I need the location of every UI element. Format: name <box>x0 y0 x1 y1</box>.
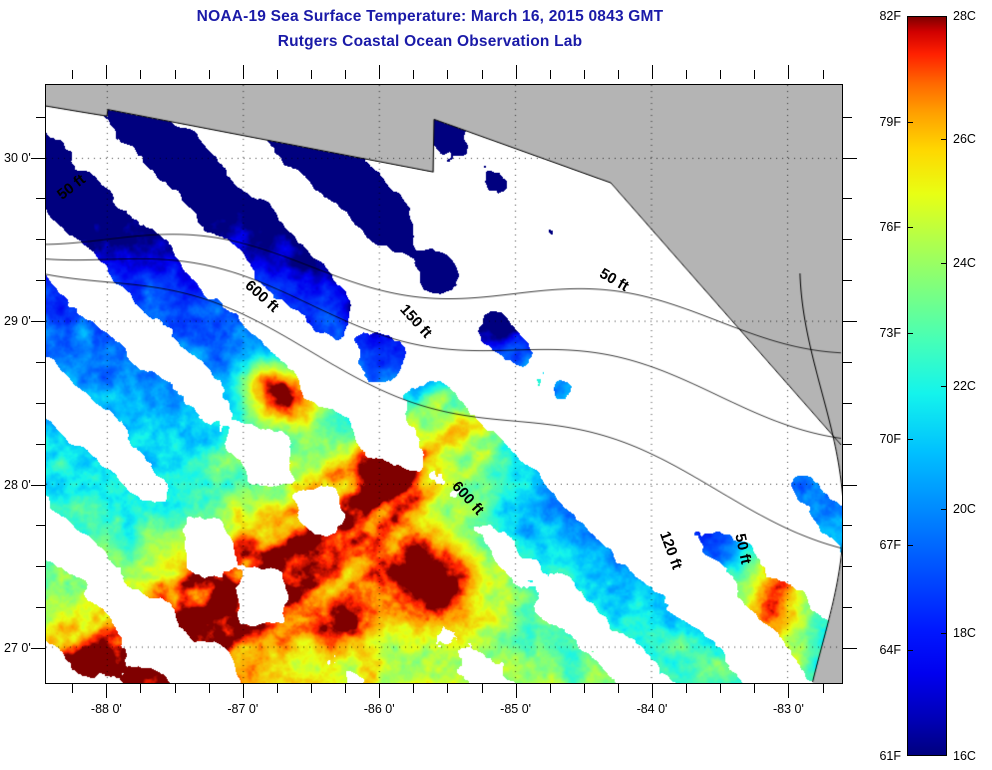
x-axis-tick-minor <box>686 684 687 693</box>
colorbar-tick <box>941 139 947 140</box>
page-title: NOAA-19 Sea Surface Temperature: March 1… <box>0 4 860 29</box>
y-axis-tick-minor <box>36 239 45 240</box>
colorbar-tick <box>907 122 913 123</box>
x-axis-top-tick-minor <box>686 70 687 79</box>
x-axis-tick-major <box>243 684 244 698</box>
x-axis-tick-major <box>106 684 107 698</box>
x-axis-top-tick-minor <box>584 70 585 79</box>
x-axis-tick-minor <box>754 684 755 693</box>
x-axis-top-tick-major <box>379 65 380 79</box>
page-subtitle: Rutgers Coastal Ocean Observation Lab <box>0 29 860 54</box>
x-axis-top-tick-minor <box>277 70 278 79</box>
chart-title-block: NOAA-19 Sea Surface Temperature: March 1… <box>0 4 860 54</box>
x-axis-top-tick-minor <box>754 70 755 79</box>
y-axis-right-tick-minor <box>843 525 852 526</box>
y-axis-right-tick-minor <box>843 117 852 118</box>
colorbar-tick <box>907 227 913 228</box>
colorbar-tick <box>941 509 947 510</box>
y-axis-tick-minor <box>36 607 45 608</box>
x-axis-label: -85 0' <box>500 702 531 716</box>
y-axis-right-tick-minor <box>843 198 852 199</box>
y-axis-right-tick-minor <box>843 444 852 445</box>
y-axis-label: 27 0' <box>4 641 31 655</box>
x-axis-tick-minor <box>140 684 141 693</box>
x-axis-tick-minor <box>550 684 551 693</box>
x-axis-tick-major <box>379 684 380 698</box>
x-axis-tick-minor <box>72 684 73 693</box>
colorbar-label-fahrenheit: 82F <box>879 9 901 23</box>
colorbar-legend[interactable]: 82F79F76F73F70F67F64F61F28C26C24C22C20C1… <box>907 16 947 756</box>
y-axis-tick-major <box>31 648 45 649</box>
x-axis-top-tick-minor <box>209 70 210 79</box>
x-axis-top-tick-major <box>516 65 517 79</box>
x-axis-tick-minor <box>345 684 346 693</box>
x-axis-top-tick-minor <box>175 70 176 79</box>
x-axis-top-tick-minor <box>550 70 551 79</box>
x-axis-tick-minor <box>618 684 619 693</box>
y-axis-tick-major <box>31 158 45 159</box>
y-axis-right-tick-minor <box>843 403 852 404</box>
x-axis-top-tick-minor <box>447 70 448 79</box>
y-axis-right-tick-major <box>843 648 857 649</box>
colorbar-label-celsius: 22C <box>953 379 976 393</box>
x-axis-top-tick-minor <box>413 70 414 79</box>
colorbar-tick <box>907 545 913 546</box>
x-axis-top-tick-major <box>652 65 653 79</box>
x-axis-tick-minor <box>823 684 824 693</box>
x-axis-label: -88 0' <box>91 702 122 716</box>
y-axis-tick-major <box>31 485 45 486</box>
x-axis-top-tick-minor <box>72 70 73 79</box>
x-axis-tick-minor <box>311 684 312 693</box>
x-axis-tick-minor <box>482 684 483 693</box>
colorbar-tick <box>907 333 913 334</box>
y-axis-right-tick-minor <box>843 566 852 567</box>
y-axis-tick-minor <box>36 525 45 526</box>
x-axis-top-tick-minor <box>823 70 824 79</box>
y-axis-tick-minor <box>36 403 45 404</box>
y-axis-right-tick-major <box>843 485 857 486</box>
sst-heatmap-canvas <box>46 85 842 683</box>
x-axis-label: -87 0' <box>227 702 258 716</box>
x-axis-top-tick-minor <box>345 70 346 79</box>
y-axis-label: 28 0' <box>4 478 31 492</box>
colorbar-label-fahrenheit: 61F <box>879 749 901 763</box>
x-axis-top-tick-minor <box>140 70 141 79</box>
colorbar-label-celsius: 18C <box>953 626 976 640</box>
colorbar-label-fahrenheit: 64F <box>879 643 901 657</box>
colorbar-label-fahrenheit: 76F <box>879 220 901 234</box>
colorbar-label-celsius: 16C <box>953 749 976 763</box>
x-axis-label: -83 0' <box>773 702 804 716</box>
colorbar-label-fahrenheit: 79F <box>879 115 901 129</box>
x-axis-tick-minor <box>447 684 448 693</box>
y-axis-tick-minor <box>36 117 45 118</box>
x-axis-tick-major <box>516 684 517 698</box>
colorbar-label-fahrenheit: 70F <box>879 432 901 446</box>
y-axis-label: 30 0' <box>4 151 31 165</box>
y-axis-tick-minor <box>36 362 45 363</box>
y-axis-tick-minor <box>36 280 45 281</box>
x-axis-top-tick-major <box>106 65 107 79</box>
sst-map-plot[interactable]: 50 ft600 ft150 ft50 ft600 ft120 ft50 ft <box>45 84 843 684</box>
y-axis-tick-minor <box>36 566 45 567</box>
colorbar-label-fahrenheit: 67F <box>879 538 901 552</box>
colorbar-tick <box>941 386 947 387</box>
x-axis-label: -86 0' <box>364 702 395 716</box>
x-axis-tick-minor <box>175 684 176 693</box>
colorbar-tick <box>941 263 947 264</box>
x-axis-tick-minor <box>277 684 278 693</box>
y-axis-label: 29 0' <box>4 314 31 328</box>
colorbar-label-celsius: 20C <box>953 502 976 516</box>
x-axis-top-tick-minor <box>618 70 619 79</box>
colorbar-tick <box>941 633 947 634</box>
y-axis-tick-minor <box>36 198 45 199</box>
x-axis-tick-minor <box>209 684 210 693</box>
x-axis-top-tick-major <box>788 65 789 79</box>
x-axis-top-tick-minor <box>482 70 483 79</box>
x-axis-top-tick-minor <box>311 70 312 79</box>
colorbar-label-celsius: 28C <box>953 9 976 23</box>
y-axis-right-tick-minor <box>843 362 852 363</box>
colorbar-label-fahrenheit: 73F <box>879 326 901 340</box>
colorbar-label-celsius: 24C <box>953 256 976 270</box>
colorbar-label-celsius: 26C <box>953 132 976 146</box>
x-axis-tick-minor <box>720 684 721 693</box>
x-axis-tick-minor <box>413 684 414 693</box>
x-axis-top-tick-minor <box>720 70 721 79</box>
y-axis-tick-minor <box>36 444 45 445</box>
y-axis-right-tick-minor <box>843 607 852 608</box>
y-axis-right-tick-major <box>843 321 857 322</box>
y-axis-right-tick-major <box>843 158 857 159</box>
y-axis-right-tick-minor <box>843 280 852 281</box>
colorbar-tick <box>907 439 913 440</box>
y-axis-tick-major <box>31 321 45 322</box>
colorbar-tick <box>907 650 913 651</box>
x-axis-label: -84 0' <box>637 702 668 716</box>
x-axis-tick-major <box>788 684 789 698</box>
x-axis-tick-major <box>652 684 653 698</box>
x-axis-top-tick-major <box>243 65 244 79</box>
y-axis-right-tick-minor <box>843 239 852 240</box>
x-axis-tick-minor <box>584 684 585 693</box>
